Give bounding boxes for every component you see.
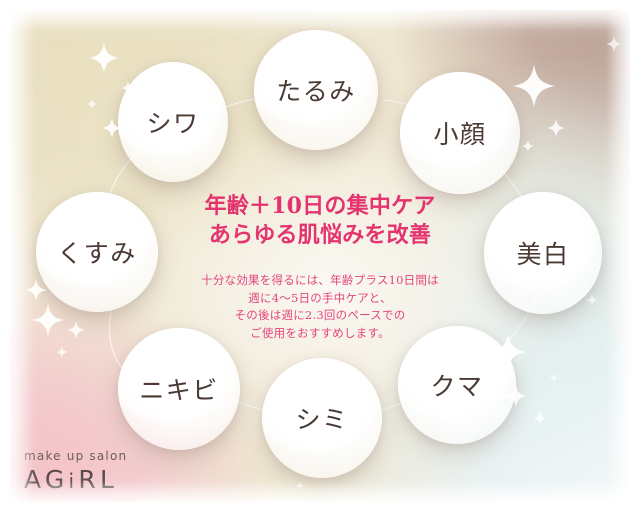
bubble-nikibi[interactable]: ニキビ	[118, 328, 240, 450]
bubble-kogao[interactable]: 小顔	[400, 72, 520, 194]
body-copy-line-1: 十分な効果を得るには、年齢プラス10日間は	[130, 272, 510, 290]
bubble-label: 小顔	[433, 115, 486, 151]
bubble-label: くすみ	[57, 234, 137, 270]
brand-name-part2: i	[69, 469, 79, 493]
bubble-shimi[interactable]: シミ	[262, 358, 382, 478]
bubble-label: シワ	[146, 104, 199, 140]
body-copy: 十分な効果を得るには、年齢プラス10日間は 週に4〜5日の手中ケアと、 その後は…	[130, 272, 510, 342]
brand-tagline: make up salon	[24, 449, 127, 463]
body-copy-line-3: その後は週に2.3回のペースでの	[130, 307, 510, 325]
headline-line-1: 年齢＋10日の集中ケア	[130, 192, 510, 221]
bubble-label: クマ	[430, 367, 483, 403]
poster-canvas: シワ たるみ 小顔 美白 クマ シミ ニキビ くすみ 年齢＋10日の集中ケア あ…	[0, 0, 640, 512]
bubble-label: ニキビ	[139, 371, 219, 407]
brand-name-part3: RL	[78, 465, 118, 494]
headline-line-2: あらゆる肌悩みを改善	[130, 221, 510, 250]
bubble-label: たるみ	[276, 72, 356, 108]
bubble-kuma[interactable]: クマ	[398, 326, 516, 444]
bubble-label: シミ	[295, 400, 348, 436]
headline: 年齢＋10日の集中ケア あらゆる肌悩みを改善	[130, 192, 510, 250]
bubble-label: 美白	[516, 235, 569, 271]
bubble-shiwa[interactable]: シワ	[118, 62, 228, 182]
brand-name-part1: AG	[24, 465, 69, 494]
brand-logo: make up salon AGiRL	[24, 449, 127, 494]
bubble-tarumi[interactable]: たるみ	[254, 30, 378, 150]
body-copy-line-4: ご使用をおすすめします。	[130, 325, 510, 343]
body-copy-line-2: 週に4〜5日の手中ケアと、	[130, 290, 510, 308]
brand-name: AGiRL	[24, 465, 127, 494]
